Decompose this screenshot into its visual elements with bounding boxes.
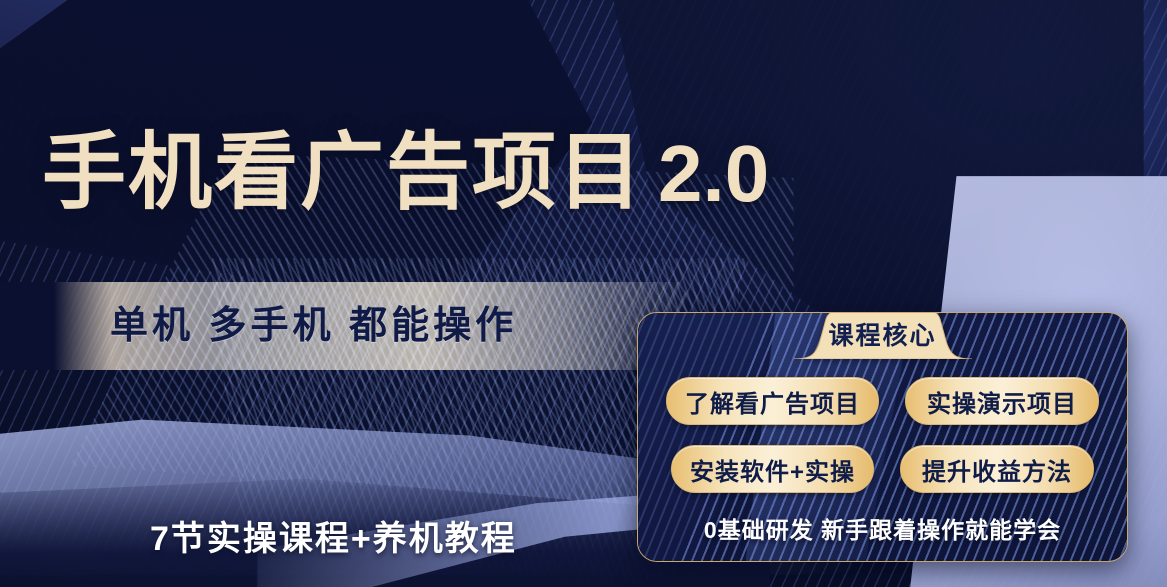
feature-pill[interactable]: 提升收益方法 (900, 445, 1094, 493)
core-badge: 课程核心 (794, 312, 972, 359)
page-title-text: 手机看广告项目 (42, 125, 644, 219)
feature-row-1: 了解看广告项目 实操演示项目 (638, 377, 1127, 425)
page-title: 手机看广告项目2.0 (42, 122, 1032, 222)
feature-pill[interactable]: 实操演示项目 (905, 377, 1099, 425)
card-footnote: 0基础研发 新手跟着操作就能学会 (638, 511, 1127, 545)
core-badge-label: 课程核心 (794, 312, 972, 359)
feature-pill[interactable]: 了解看广告项目 (666, 377, 879, 425)
feature-pill[interactable]: 安装软件+实操 (671, 445, 874, 493)
core-card: 课程核心 了解看广告项目 实操演示项目 安装软件+实操 提升收益方法 0基础研发… (637, 312, 1128, 562)
course-count-note: 7节实操课程+养机教程 (150, 516, 517, 562)
poster-canvas: 手机看广告项目2.0 单机 多手机 都能操作 7节实操课程+养机教程 课程核心 … (0, 0, 1167, 587)
page-title-version: 2.0 (658, 129, 769, 218)
page-subtitle: 单机 多手机 都能操作 (110, 296, 517, 356)
feature-row-2: 安装软件+实操 提升收益方法 (638, 445, 1127, 493)
subtitle-band-left-fade (0, 282, 112, 370)
